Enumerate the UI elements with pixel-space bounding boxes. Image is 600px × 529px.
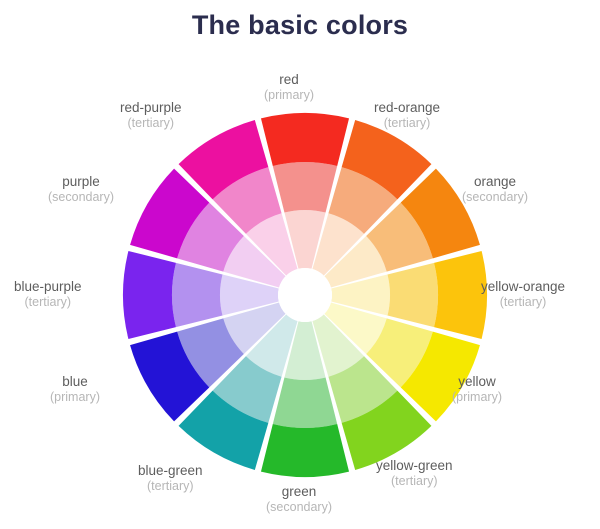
wheel-label-kind: (secondary) [266, 500, 332, 515]
color-wheel-svg [120, 110, 490, 480]
wheel-label-name: yellow-green [376, 458, 453, 474]
wheel-label-name: red-purple [120, 100, 182, 116]
wheel-label-name: red-orange [374, 100, 440, 116]
wheel-label-name: purple [48, 174, 114, 190]
wheel-label-yellow-green: yellow-green(tertiary) [376, 458, 453, 490]
wheel-label-name: red [264, 72, 314, 88]
color-wheel [120, 110, 490, 480]
wheel-segment-red-middle-tint[interactable] [273, 162, 337, 213]
wheel-label-kind: (secondary) [462, 190, 528, 205]
wheel-label-kind: (tertiary) [376, 474, 453, 489]
wheel-label-red: red(primary) [264, 72, 314, 104]
wheel-label-yellow-orange: yellow-orange(tertiary) [481, 279, 565, 311]
wheel-label-name: blue-purple [14, 279, 82, 295]
wheel-segment-green-middle-tint[interactable] [273, 377, 337, 428]
wheel-label-kind: (primary) [452, 390, 502, 405]
wheel-label-blue-green: blue-green(tertiary) [138, 463, 203, 495]
wheel-label-purple: purple(secondary) [48, 174, 114, 206]
wheel-segment-yellow-orange-middle-tint[interactable] [387, 263, 438, 327]
wheel-segment-yellow-orange-outer-saturated[interactable] [434, 251, 487, 339]
wheel-segment-red-outer-saturated[interactable] [261, 113, 349, 166]
wheel-hub [278, 268, 332, 322]
wheel-label-red-orange: red-orange(tertiary) [374, 100, 440, 132]
wheel-label-green: green(secondary) [266, 484, 332, 516]
wheel-label-kind: (secondary) [48, 190, 114, 205]
wheel-label-kind: (primary) [264, 88, 314, 103]
wheel-label-name: blue [50, 374, 100, 390]
wheel-label-yellow: yellow(primary) [452, 374, 502, 406]
wheel-label-blue-purple: blue-purple(tertiary) [14, 279, 82, 311]
wheel-label-orange: orange(secondary) [462, 174, 528, 206]
color-wheel-diagram: The basic colors red(primary)red-orange(… [0, 0, 600, 529]
wheel-label-kind: (tertiary) [374, 116, 440, 131]
wheel-label-name: yellow [452, 374, 502, 390]
wheel-label-name: orange [462, 174, 528, 190]
wheel-label-kind: (tertiary) [120, 116, 182, 131]
page-title: The basic colors [0, 10, 600, 41]
wheel-segment-green-outer-saturated[interactable] [261, 424, 349, 477]
wheel-label-name: green [266, 484, 332, 500]
wheel-label-kind: (tertiary) [14, 295, 82, 310]
wheel-segment-blue-purple-outer-saturated[interactable] [123, 251, 176, 339]
wheel-label-red-purple: red-purple(tertiary) [120, 100, 182, 132]
wheel-segment-blue-purple-middle-tint[interactable] [172, 263, 223, 327]
wheel-label-blue: blue(primary) [50, 374, 100, 406]
wheel-label-kind: (primary) [50, 390, 100, 405]
wheel-label-kind: (tertiary) [138, 479, 203, 494]
wheel-label-name: blue-green [138, 463, 203, 479]
wheel-label-name: yellow-orange [481, 279, 565, 295]
wheel-label-kind: (tertiary) [481, 295, 565, 310]
